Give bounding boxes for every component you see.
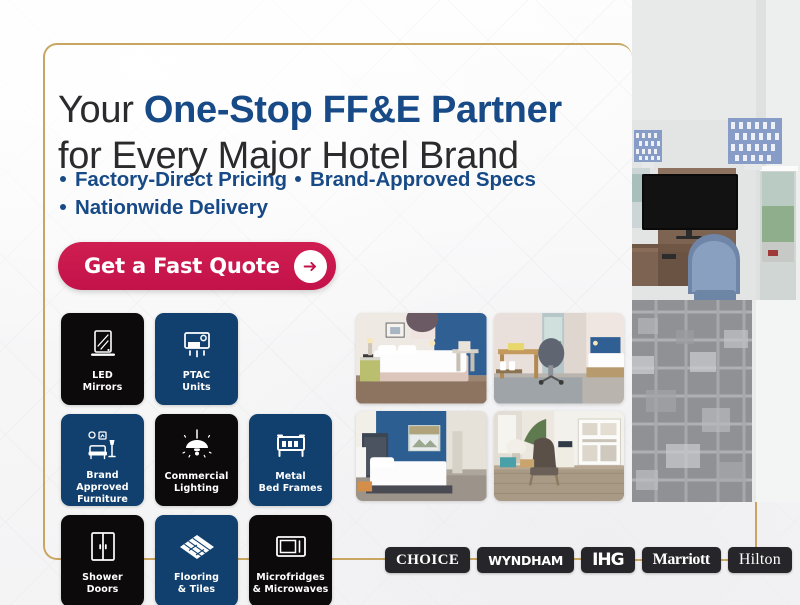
hotel-room-tv-desk-photo	[632, 0, 800, 502]
tile-label: ShowerDoors	[79, 572, 126, 596]
bullet-row-2: Nationwide Delivery	[58, 194, 603, 222]
shower-door-icon	[83, 525, 123, 569]
cta-label: Get a Fast Quote	[84, 254, 280, 278]
tile-label: Microfridges& Microwaves	[250, 572, 332, 596]
tile-ptac-units[interactable]: PTACUnits	[155, 313, 238, 405]
brand-label: CHOICE	[396, 552, 459, 569]
brand-logo-choice[interactable]: CHOICE	[385, 547, 470, 573]
tile-label: CommercialLighting	[162, 471, 232, 495]
bed-frame-icon	[271, 424, 311, 468]
led-mirror-icon	[83, 323, 123, 367]
tile-label: Flooring& Tiles	[171, 572, 222, 596]
tile-microfridges-microwaves[interactable]: Microfridges& Microwaves	[249, 515, 332, 605]
guestroom-king-bed-photo	[356, 313, 487, 404]
hotel-room-photo-grid	[356, 313, 624, 501]
brand-label: Hilton	[739, 551, 781, 569]
microwave-icon	[271, 525, 311, 569]
guestroom-blue-accent-wall-photo	[356, 411, 487, 502]
brand-logo-wyndham[interactable]: WYNDHAM	[477, 547, 574, 573]
flooring-tile-icon	[176, 525, 218, 569]
bullet-dot-icon	[295, 176, 301, 182]
tile-brand-approved-furniture[interactable]: Brand ApprovedFurniture	[61, 414, 144, 506]
ad-banner: Your One-Stop FF&E Partner for Every Maj…	[0, 0, 800, 605]
tile-led-mirrors[interactable]: LEDMirrors	[61, 313, 144, 405]
tile-flooring-tiles[interactable]: Flooring& Tiles	[155, 515, 238, 605]
headline-accent: One-Stop FF&E Partner	[144, 89, 562, 131]
brand-label: Marriott	[653, 551, 710, 569]
tile-placeholder-empty	[249, 313, 332, 405]
bullet-row-1: Factory-Direct PricingBrand-Approved Spe…	[58, 166, 603, 194]
bullet-dot-icon	[60, 204, 66, 210]
brand-logo-marriott[interactable]: Marriott	[642, 547, 721, 573]
pendant-lamp-icon	[177, 424, 217, 468]
ptac-unit-icon	[177, 323, 217, 367]
bullet-dot-icon	[60, 176, 66, 182]
brand-logo-hilton[interactable]: Hilton	[728, 547, 792, 573]
get-a-fast-quote-button[interactable]: Get a Fast Quote	[58, 242, 336, 290]
guestroom-desk-chair-photo	[494, 313, 625, 404]
bullet-brand-approved-specs: Brand-Approved Specs	[310, 168, 536, 191]
bullet-nationwide-delivery: Nationwide Delivery	[75, 196, 268, 219]
brand-label: WYNDHAM	[488, 553, 563, 568]
feature-bullets: Factory-Direct PricingBrand-Approved Spe…	[58, 166, 603, 222]
arrow-right-icon	[294, 250, 327, 283]
bullet-factory-direct-pricing: Factory-Direct Pricing	[75, 168, 287, 191]
tile-commercial-lighting[interactable]: CommercialLighting	[155, 414, 238, 506]
brand-logo-ihg[interactable]: IHG	[581, 547, 635, 573]
tile-label: MetalBed Frames	[256, 471, 326, 495]
tile-shower-doors[interactable]: ShowerDoors	[61, 515, 144, 605]
tile-label: LEDMirrors	[80, 370, 126, 394]
hotel-brand-logo-strip: CHOICE WYNDHAM IHG Marriott Hilton	[385, 547, 792, 573]
furniture-icon	[83, 424, 123, 467]
tile-metal-bed-frames[interactable]: MetalBed Frames	[249, 414, 332, 506]
tile-label: PTACUnits	[179, 370, 213, 394]
brand-label: IHG	[592, 550, 624, 570]
product-category-tiles: LEDMirrors PTACUnits	[61, 313, 346, 605]
headline-plain: Your	[58, 89, 144, 131]
guestroom-lounge-seating-photo	[494, 411, 625, 502]
tile-label: Brand ApprovedFurniture	[61, 470, 144, 506]
